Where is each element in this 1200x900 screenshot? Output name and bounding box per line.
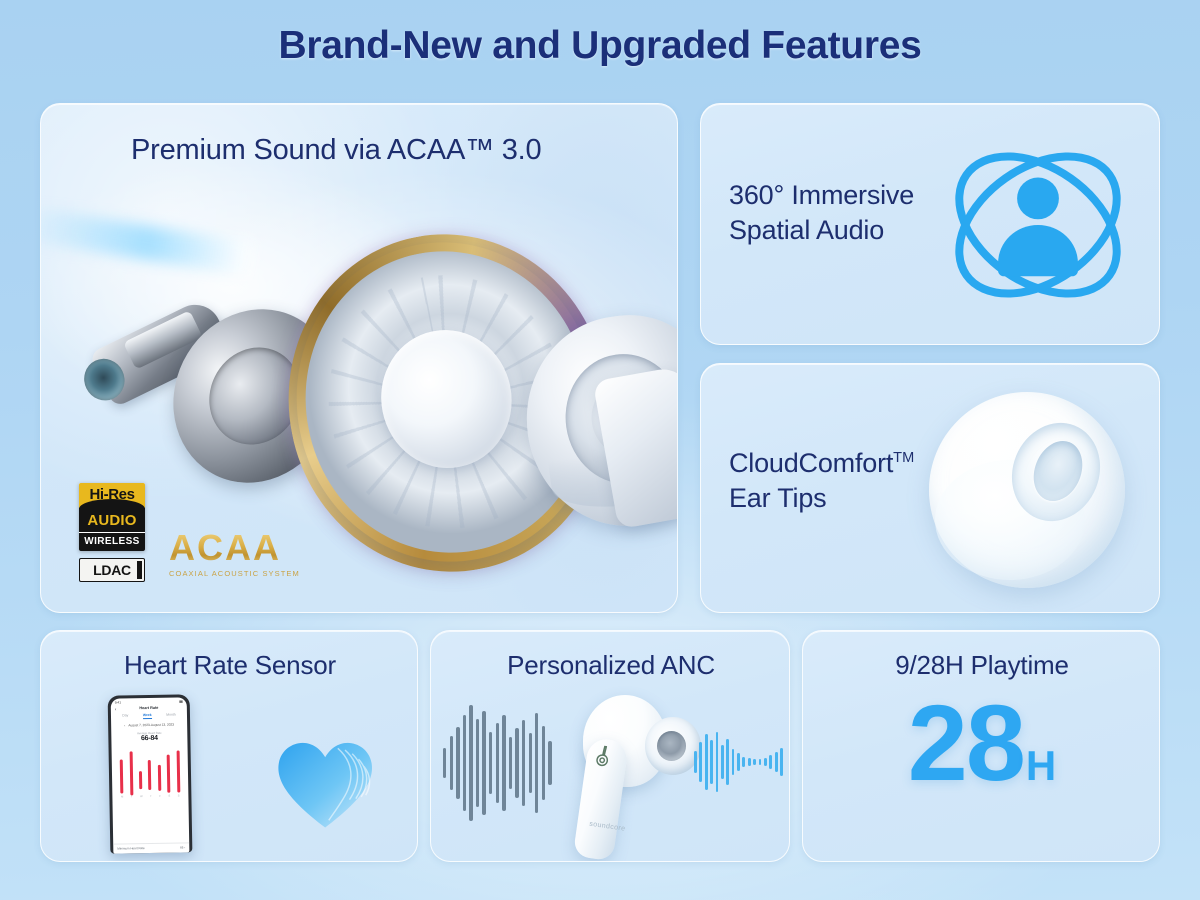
phone-chart-x-label: S <box>178 794 180 797</box>
phone-chart-bar <box>129 751 133 795</box>
playtime-value-block: 28H <box>803 689 1160 797</box>
trademark-symbol: TM <box>893 450 914 466</box>
certification-badges: Hi-Res AUDIO WIRELESS LDAC ACAA COAXIAL … <box>79 483 300 582</box>
phone-date-range: ‹ August 7, 2023-August 13, 2023 <box>111 719 187 728</box>
phone-chart-x-label: W <box>140 795 143 798</box>
phone-footer-value: 66 › <box>180 845 185 849</box>
heart-shape <box>278 743 372 828</box>
phone-screen: 9:41 ▮▮ ‹ Heart Rate Day Week Month ‹ Au… <box>111 697 190 853</box>
reduced-wave-bar <box>705 734 708 790</box>
reduced-wave-bar <box>764 758 767 766</box>
noise-wave-bar <box>515 728 518 798</box>
panel-heart-rate-sensor: Heart Rate Sensor 9:41 ▮▮ ‹ Heart Rate D… <box>40 630 418 862</box>
acaa-logo: ACAA COAXIAL ACOUSTIC SYSTEM <box>169 530 300 582</box>
reduced-wave-bar <box>759 759 762 765</box>
spatial-audio-orbit-person-icon <box>943 130 1133 320</box>
reduced-wave-bar <box>732 749 735 775</box>
pulsing-heart-icon <box>273 737 381 837</box>
ear-tip-image <box>929 392 1125 588</box>
phone-tab-week[interactable]: Week <box>143 713 152 719</box>
phone-chart-x-label: T <box>150 795 152 798</box>
reduced-wave-bar <box>775 752 778 772</box>
heart-rate-title: Heart Rate Sensor <box>41 649 418 682</box>
hires-ldac-badge-group: Hi-Res AUDIO WIRELESS LDAC <box>79 483 145 582</box>
reduced-wave-bar <box>748 758 751 766</box>
phone-chart-bar <box>120 759 124 793</box>
phone-chart-x-label: M <box>121 795 123 798</box>
earbud-ear-tip <box>645 717 701 775</box>
ear-tips-title-second: Ear Tips <box>729 483 826 513</box>
premium-sound-title: Premium Sound via ACAA™ 3.0 <box>131 132 541 169</box>
ldac-badge: LDAC <box>79 558 145 582</box>
anc-title: Personalized ANC <box>431 649 790 682</box>
hi-res-audio-wireless-badge: Hi-Res AUDIO WIRELESS <box>79 483 145 551</box>
phone-chart-bar <box>176 750 180 792</box>
noise-wave-bar <box>456 727 459 799</box>
noise-wave-bar <box>463 715 466 811</box>
phone-chart-bar <box>148 760 152 790</box>
acaa-logo-subtitle: COAXIAL ACOUSTIC SYSTEM <box>169 569 300 578</box>
phone-mockup: 9:41 ▮▮ ‹ Heart Rate Day Week Month ‹ Au… <box>108 694 193 853</box>
noise-wave-bar <box>450 736 453 790</box>
noise-wave-bar <box>502 715 505 811</box>
phone-chart-bar <box>167 755 171 793</box>
phone-chart-bar <box>139 771 142 789</box>
reduced-wave-bar <box>753 759 756 765</box>
noise-wave-bar <box>496 723 499 803</box>
phone-tab-day[interactable]: Day <box>122 713 128 719</box>
reduced-wave-bar <box>780 748 783 776</box>
reduced-wave-bar <box>769 755 772 769</box>
anc-illustration: soundcore <box>431 689 790 862</box>
soundcore-logo-icon <box>595 744 613 768</box>
reduced-noise-waveform <box>694 729 783 795</box>
reduced-wave-bar <box>694 751 697 773</box>
phone-heart-rate-chart <box>111 741 188 794</box>
phone-footer-row: Minimum Heart Rate 66 › <box>113 842 189 850</box>
date-range-label: August 7, 2023-August 13, 2023 <box>128 723 174 728</box>
reduced-wave-bar <box>710 740 713 784</box>
playtime-title: 9/28H Playtime <box>803 649 1160 682</box>
phone-screen-title: Heart Rate <box>139 706 158 710</box>
person-head-shape <box>1017 178 1059 220</box>
back-icon[interactable]: ‹ <box>115 706 117 711</box>
hires-badge-line3: WIRELESS <box>79 532 145 551</box>
noise-wave-bar <box>482 711 485 815</box>
noise-wave-bar <box>443 748 446 778</box>
ear-tips-title-main: CloudComfort <box>729 448 893 478</box>
phone-chart-x-axis: MTWTFSS <box>112 793 188 798</box>
phone-chart-x-label: T <box>131 795 133 798</box>
playtime-unit: H <box>1026 742 1056 789</box>
reduced-wave-bar <box>721 745 724 779</box>
feature-graphic: Brand-New and Upgraded Features Premium … <box>0 0 1200 900</box>
panel-personalized-anc: Personalized ANC soundcore <box>430 630 790 862</box>
noise-wave-bar <box>476 719 479 807</box>
person-body-shape <box>998 225 1078 276</box>
noise-wave-bar <box>529 733 532 793</box>
reduced-wave-bar <box>726 739 729 785</box>
reduced-wave-bar <box>742 757 745 767</box>
panel-cloudcomfort-ear-tips: CloudComfortTMEar Tips <box>700 363 1160 613</box>
spatial-audio-title: 360° Immersive Spatial Audio <box>729 178 914 247</box>
reduced-wave-bar <box>699 742 702 782</box>
panel-premium-sound: Premium Sound via ACAA™ 3.0 Hi-Res AUDIO… <box>40 103 678 613</box>
phone-chart-x-label: S <box>168 795 170 798</box>
acaa-logo-word: ACAA <box>169 530 300 566</box>
reduced-wave-bar <box>737 753 740 771</box>
noise-wave-bar <box>509 737 512 789</box>
page-title: Brand-New and Upgraded Features <box>0 24 1200 68</box>
earbud-image: soundcore <box>539 691 709 862</box>
noise-wave-bar <box>522 720 525 806</box>
playtime-number: 28 <box>908 682 1024 803</box>
phone-tab-month[interactable]: Month <box>166 713 176 719</box>
noise-wave-bar <box>469 705 472 821</box>
phone-chart-bar <box>158 765 161 791</box>
noise-wave-bar <box>489 732 492 794</box>
date-range-prev-icon[interactable]: ‹ <box>124 723 125 727</box>
phone-nav-bar: ‹ Heart Rate <box>111 703 187 711</box>
panel-playtime: 9/28H Playtime 28H <box>802 630 1160 862</box>
noise-wave-bar <box>535 713 538 813</box>
incoming-noise-waveform <box>443 703 552 823</box>
reduced-wave-bar <box>716 732 719 792</box>
ear-tips-title: CloudComfortTMEar Tips <box>729 446 914 515</box>
phone-footer-label: Minimum Heart Rate <box>117 846 145 850</box>
phone-chart-x-label: F <box>159 795 161 798</box>
panel-spatial-audio: 360° Immersive Spatial Audio <box>700 103 1160 345</box>
hires-badge-line2: AUDIO <box>79 508 145 532</box>
